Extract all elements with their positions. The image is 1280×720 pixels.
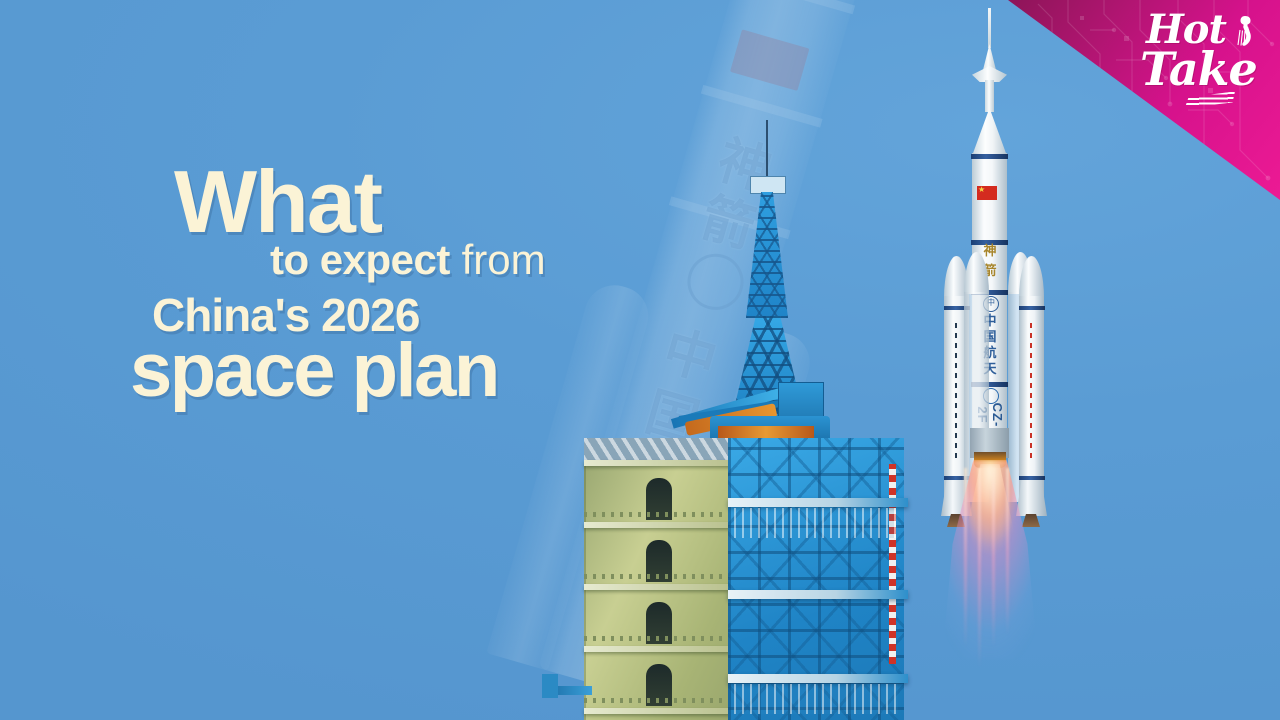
tower-walkway-deck xyxy=(728,498,908,507)
tower-walkway-deck xyxy=(728,590,908,599)
headline-line-1: What xyxy=(130,160,650,244)
hot-take-logo[interactable]: Hot Take xyxy=(1140,4,1272,112)
headline-line-2-light: from xyxy=(462,236,546,283)
crane-base-accent xyxy=(718,426,814,438)
exhaust-streak xyxy=(992,468,995,648)
tower-side-arm-housing xyxy=(542,674,558,698)
tower-red-marker-stripe xyxy=(889,464,896,664)
booster-band xyxy=(1019,476,1045,480)
rocket-navy-band xyxy=(971,154,1008,159)
tower-roof-slats xyxy=(584,438,734,462)
platform-floor xyxy=(584,708,734,714)
booster-dash-line-red xyxy=(1030,318,1032,458)
platform-floor xyxy=(584,646,734,652)
headline-line-2-bold: to expect xyxy=(270,236,450,283)
tower-walkway-deck xyxy=(728,674,908,683)
platform-floor xyxy=(584,584,734,590)
long-march-2f-rocket: 神 箭 中 中 国 航 天 CZ-2F xyxy=(920,8,1060,648)
tower-grating xyxy=(734,684,898,714)
headline-block: What to expect from China's 2026 space p… xyxy=(130,160,650,408)
platform-railing xyxy=(584,636,734,641)
payload-fairing-nose xyxy=(972,108,1007,156)
service-platform-stack xyxy=(584,460,734,720)
exhaust-streak xyxy=(1006,468,1009,636)
mast-lattice-upper xyxy=(746,192,788,318)
platform-railing xyxy=(584,574,734,579)
escape-tower-spike xyxy=(988,8,991,48)
booster-dash-line xyxy=(955,318,957,458)
platform-railing xyxy=(584,698,734,703)
booster-band xyxy=(1019,306,1045,310)
mast-platform xyxy=(750,176,786,194)
chili-pepper-icon xyxy=(1232,14,1258,48)
exhaust-streak xyxy=(964,468,967,648)
platform-railing xyxy=(584,512,734,517)
platform-floor xyxy=(584,522,734,528)
tower-main-structure xyxy=(578,438,898,720)
chinese-flag-icon xyxy=(977,186,997,200)
lightning-rod-icon xyxy=(766,120,768,178)
escape-tower-stem xyxy=(985,80,994,112)
headline-line-4: space plan xyxy=(130,335,650,408)
hot-take-word-take: Take xyxy=(1140,42,1257,96)
platform-floor xyxy=(584,460,734,466)
screenshot-canvas: 神 箭 中 国 航 天 xyxy=(0,0,1280,720)
exhaust-streak xyxy=(978,468,981,668)
tower-grating xyxy=(734,508,898,538)
